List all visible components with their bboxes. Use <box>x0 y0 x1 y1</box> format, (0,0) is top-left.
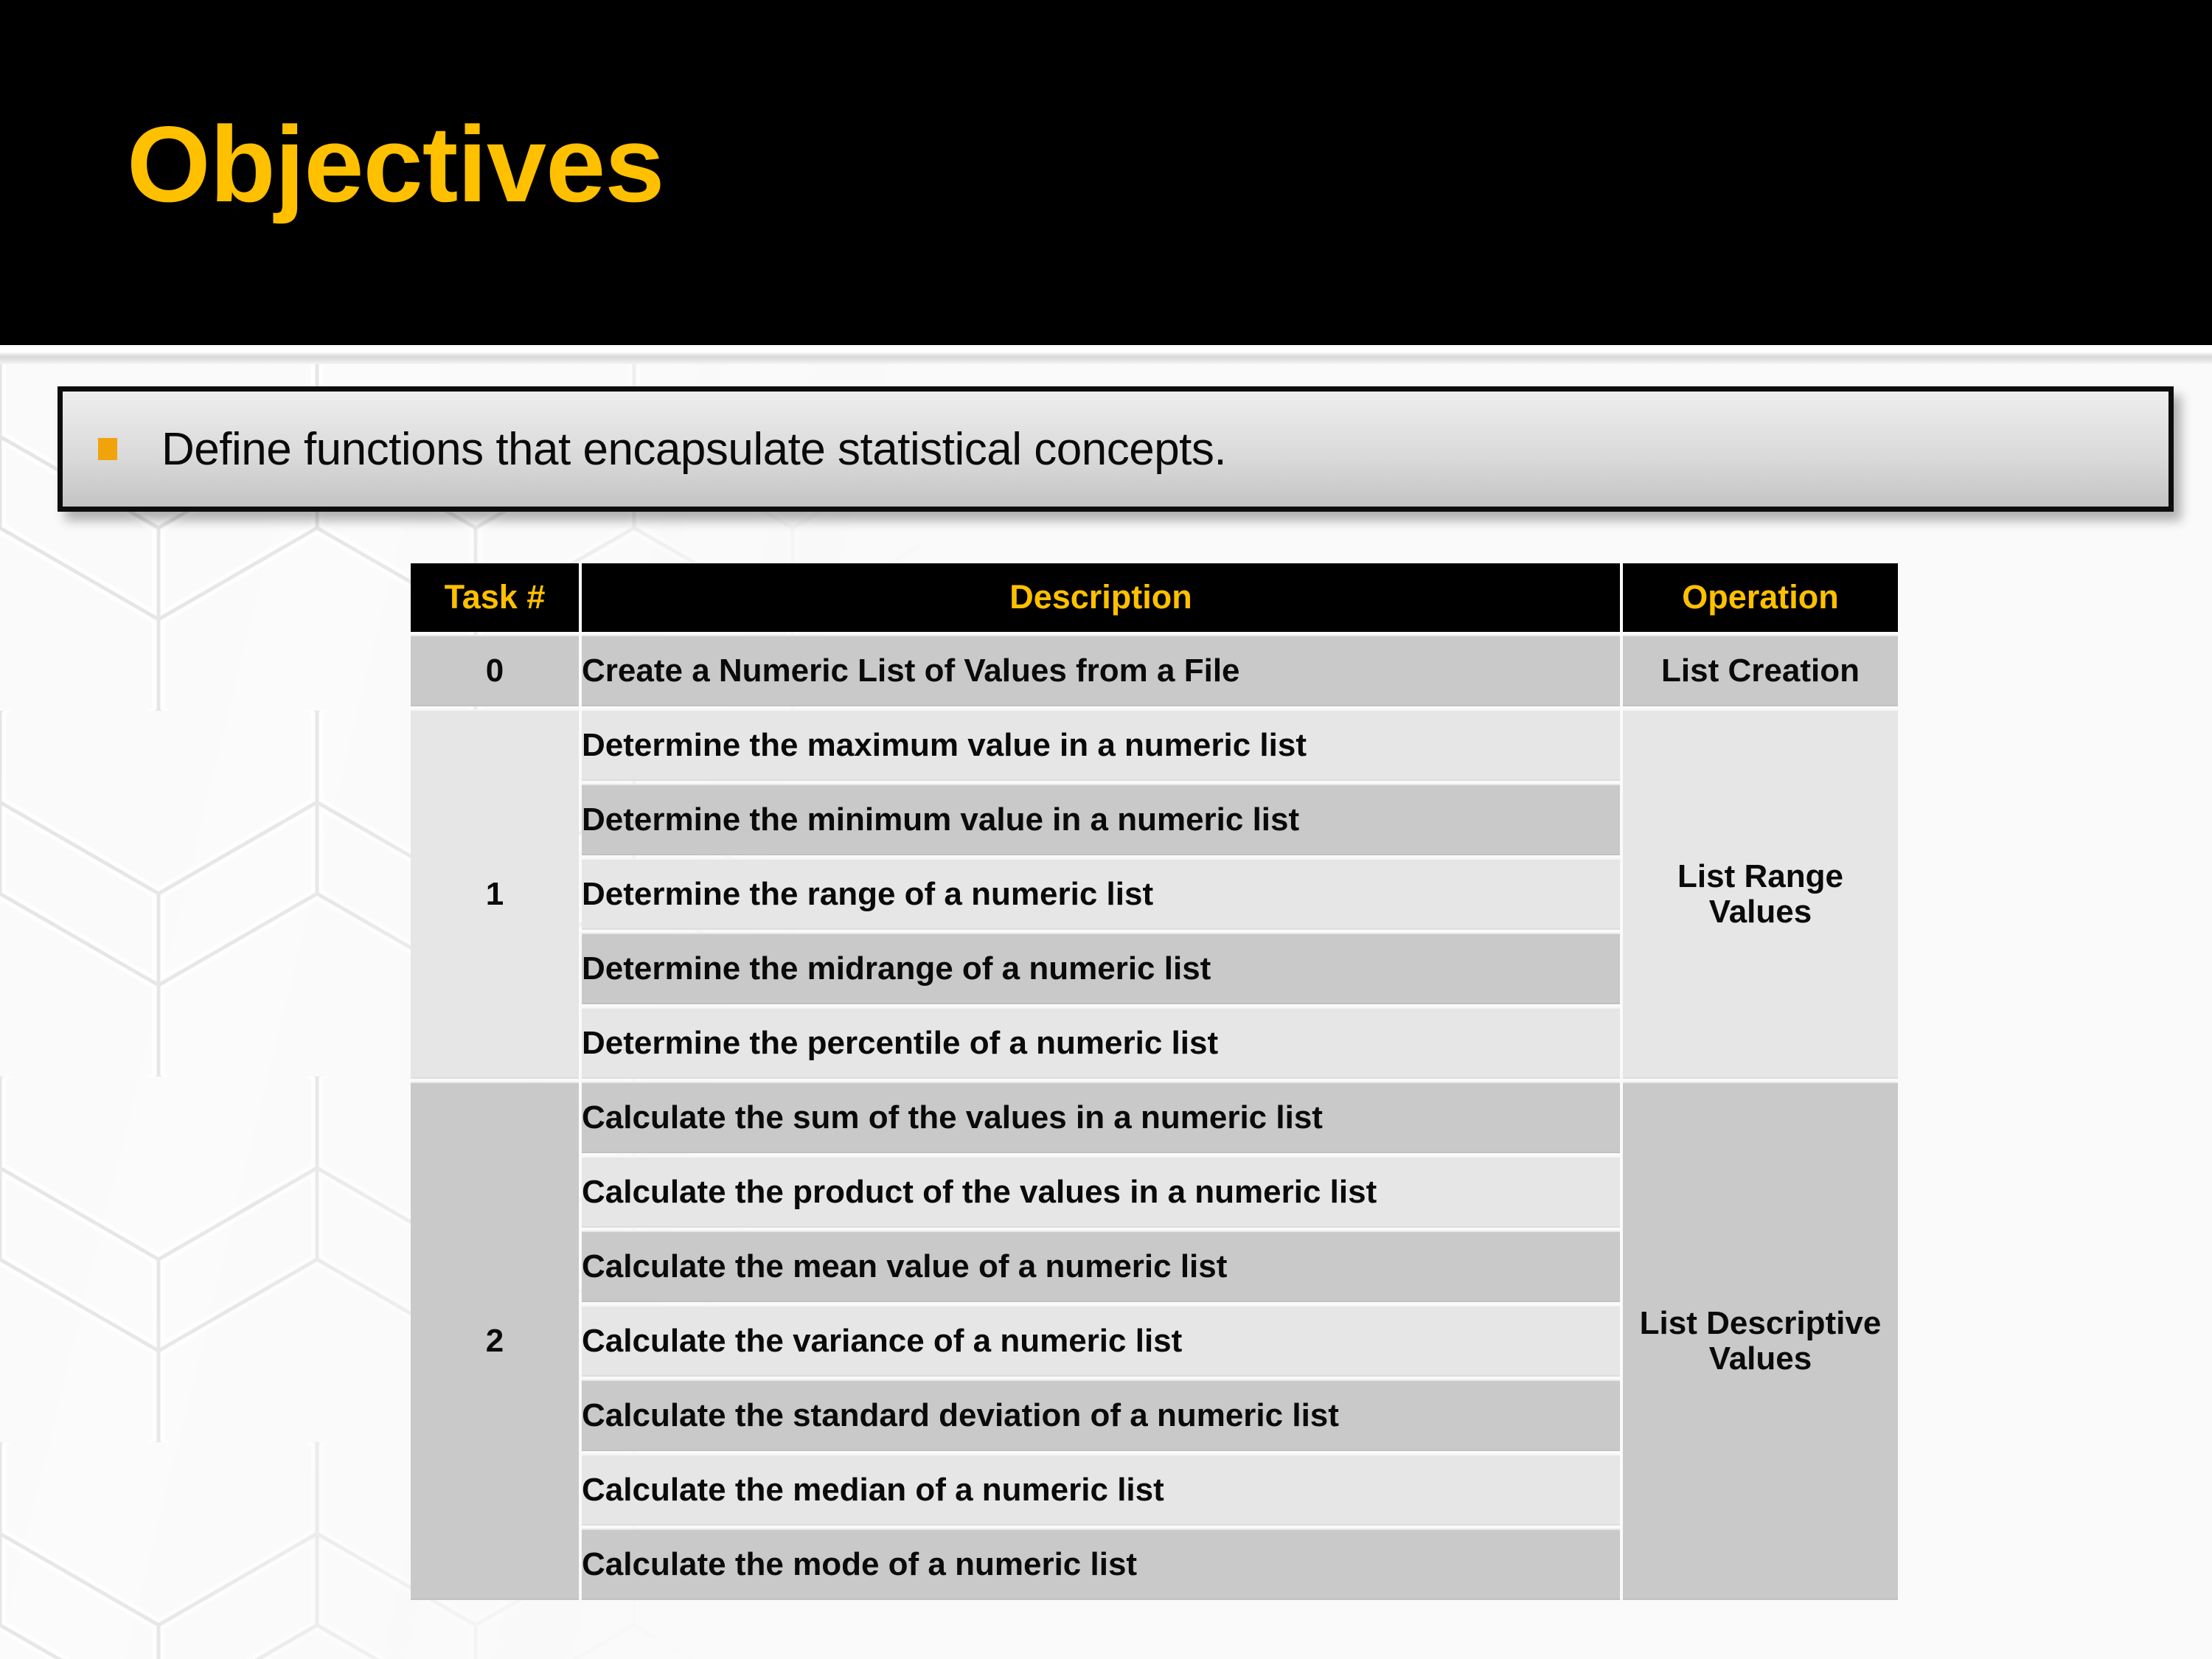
task-table: Task # Description Operation 0Create a N… <box>408 560 1901 1603</box>
description-cell: Create a Numeric List of Values from a F… <box>582 635 1620 706</box>
task-number-cell: 2 <box>411 1082 579 1600</box>
table-body: 0Create a Numeric List of Values from a … <box>411 635 1898 1600</box>
description-cell: Calculate the sum of the values in a num… <box>582 1082 1620 1153</box>
table-row: 1Determine the maximum value in a numeri… <box>411 709 1898 781</box>
slide-canvas: Objectives Define functions that encapsu… <box>0 0 2212 1659</box>
task-number-cell: 0 <box>411 635 579 706</box>
description-cell: Determine the midrange of a numeric list <box>582 933 1620 1004</box>
description-cell: Calculate the product of the values in a… <box>582 1156 1620 1228</box>
band-divider <box>0 345 2212 364</box>
column-header-operation: Operation <box>1623 563 1898 632</box>
table-header-row: Task # Description Operation <box>411 563 1898 632</box>
column-header-description: Description <box>582 563 1620 632</box>
description-cell: Calculate the variance of a numeric list <box>582 1305 1620 1377</box>
table-header: Task # Description Operation <box>411 563 1898 632</box>
description-cell: Determine the percentile of a numeric li… <box>582 1007 1620 1079</box>
operation-cell: List Descriptive Values <box>1623 1082 1898 1600</box>
description-cell: Determine the range of a numeric list <box>582 858 1620 930</box>
description-cell: Determine the minimum value in a numeric… <box>582 784 1620 855</box>
column-header-task: Task # <box>411 563 579 632</box>
title-band: Objectives <box>0 0 2212 345</box>
table-row: 2Calculate the sum of the values in a nu… <box>411 1082 1898 1153</box>
task-number-cell: 1 <box>411 709 579 1079</box>
description-cell: Calculate the mode of a numeric list <box>582 1528 1620 1600</box>
square-bullet-icon <box>98 438 117 460</box>
operation-cell: List Range Values <box>1623 709 1898 1079</box>
description-cell: Determine the maximum value in a numeric… <box>582 709 1620 781</box>
description-cell: Calculate the mean value of a numeric li… <box>582 1231 1620 1302</box>
table-row: 0Create a Numeric List of Values from a … <box>411 635 1898 706</box>
page-title: Objectives <box>127 111 664 218</box>
bullet-callout-box: Define functions that encapsulate statis… <box>58 386 2174 512</box>
bullet-text: Define functions that encapsulate statis… <box>161 423 1226 476</box>
operation-cell: List Creation <box>1623 635 1898 706</box>
description-cell: Calculate the standard deviation of a nu… <box>582 1380 1620 1451</box>
description-cell: Calculate the median of a numeric list <box>582 1454 1620 1526</box>
